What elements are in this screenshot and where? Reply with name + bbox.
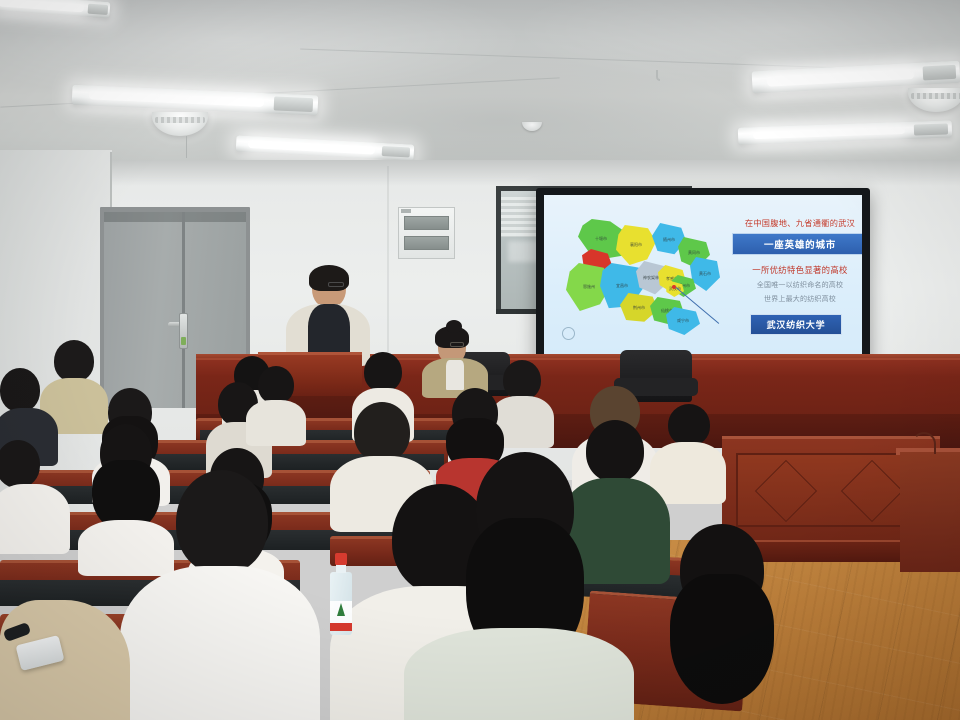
- audience-body: [120, 566, 320, 720]
- audience-head: [0, 440, 40, 488]
- audience-head: [354, 402, 410, 462]
- audience-member: [120, 470, 320, 720]
- tube-endcap: [88, 3, 108, 15]
- tv-screen: 十堰市 襄阳市 随州市 黄冈市 黄石市 恩施州 宜昌市 神农架林区 孝感市 鄂州…: [544, 195, 862, 380]
- ceiling-hook: [656, 70, 660, 81]
- electrical-panel-box: [398, 207, 455, 259]
- carved-diamond: [755, 460, 817, 522]
- panel-label: [401, 209, 411, 213]
- audience-hair-ponytail: [670, 574, 774, 704]
- dome-rim: [155, 117, 204, 123]
- hubei-province-map: 十堰市 襄阳市 随州市 黄冈市 黄石市 恩施州 宜昌市 神农架林区 孝感市 鄂州…: [562, 219, 722, 347]
- door-split-line: [182, 212, 185, 408]
- tube-endcap: [382, 146, 411, 158]
- bottle-cap: [335, 553, 347, 565]
- audience-head: [54, 340, 94, 382]
- tube-lamp: [248, 140, 375, 154]
- tube-lamp: [753, 127, 905, 140]
- speaker-hair: [309, 265, 349, 291]
- slide-headline: 在中国腹地、九省通衢的武汉: [732, 217, 862, 229]
- tube-lamp: [766, 69, 914, 86]
- dome-rim: [911, 93, 960, 99]
- official-shirt: [446, 360, 464, 390]
- slide-bullet: 世界上最大的纺织高校: [732, 294, 862, 304]
- audience-member: [404, 452, 634, 720]
- eyeglasses: [450, 342, 464, 347]
- audience-member: [246, 366, 306, 440]
- bottle-neck: [336, 564, 346, 573]
- audience-head: [668, 404, 710, 446]
- tube-endcap: [922, 64, 956, 81]
- slide-highlight-box-2: 武汉纺织大学: [750, 314, 842, 335]
- wall-top-shading: [0, 160, 960, 186]
- carved-panel-inset: [736, 453, 926, 527]
- dome-light-cord: [186, 136, 187, 158]
- audience-body: [246, 400, 306, 446]
- slide-text-block: 在中国腹地、九省通衢的武汉 一座英雄的城市 一所优纺特色显著的高校 全国唯一以纺…: [732, 217, 862, 335]
- audience-head: [364, 352, 402, 392]
- door-lock[interactable]: [179, 313, 188, 349]
- audience-head: [0, 368, 40, 412]
- tube-lamp: [0, 0, 84, 12]
- panel-breaker-row: [404, 216, 449, 230]
- panel-breaker-row: [404, 236, 449, 250]
- official-hair-bun: [446, 320, 462, 333]
- seated-official: [422, 324, 488, 396]
- audience-head: [258, 366, 294, 404]
- eyeglasses: [328, 282, 344, 287]
- audience-member: [630, 524, 810, 720]
- audience-member: [0, 440, 70, 550]
- tube-endcap: [913, 123, 948, 136]
- tube-lamp: [89, 91, 264, 107]
- lecture-hall-photo: 十堰市 襄阳市 随州市 黄冈市 黄石市 恩施州 宜昌市 神农架林区 孝感市 鄂州…: [0, 0, 960, 720]
- audience-body: [404, 628, 634, 720]
- slide-highlight-box-1: 一座英雄的城市: [732, 233, 862, 255]
- gooseneck-microphone: [912, 432, 936, 454]
- slide-decorative-circle: [562, 327, 575, 340]
- standing-speaker: [286, 268, 370, 364]
- door-top-shadow: [104, 212, 246, 222]
- map-region: 咸宁市: [666, 307, 700, 335]
- audience-head: [176, 470, 268, 574]
- side-table: [900, 452, 960, 572]
- slide-bullet: 全国唯一以纺织命名的高校: [732, 280, 862, 290]
- map-region: 襄阳市: [616, 225, 656, 265]
- slide-subhead: 一所优纺特色显著的高校: [732, 264, 862, 276]
- carved-diamond: [841, 460, 903, 522]
- water-bottle[interactable]: [330, 553, 352, 635]
- bottle-label-band: [330, 623, 352, 631]
- audience-body: [0, 484, 70, 554]
- tube-endcap: [273, 97, 313, 112]
